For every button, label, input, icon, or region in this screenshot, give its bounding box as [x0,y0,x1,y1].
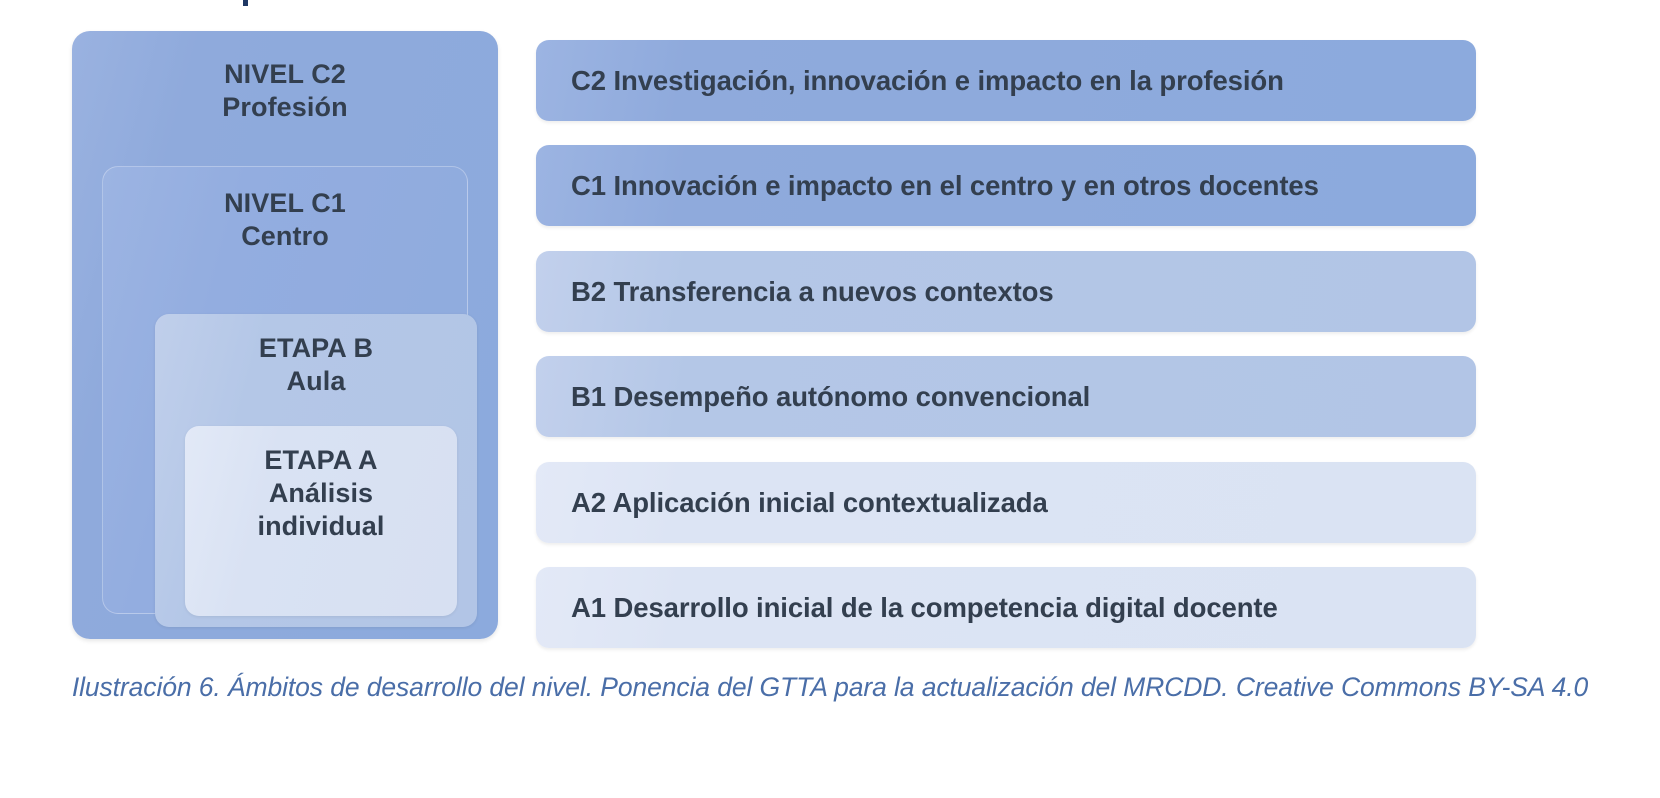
level-c2-line1: NIVEL C2 [224,59,346,89]
progression-bar-a1-label: A1 Desarrollo inicial de la competencia … [571,592,1278,624]
progression-bar-c2-label: C2 Investigación, innovación e impacto e… [571,65,1284,97]
level-box-nivel-c2: NIVEL C2 Profesión NIVEL C1 Centro ETAPA… [72,31,498,639]
level-box-nivel-c1: NIVEL C1 Centro ETAPA B Aula ETAPA A Aná… [102,166,468,614]
level-a-line2: Análisis [269,478,373,508]
progression-bar-c2: C2 Investigación, innovación e impacto e… [536,40,1476,121]
progression-bar-b1-label: B1 Desempeño autónomo convencional [571,381,1090,413]
level-a-line3: individual [257,511,384,541]
level-b-line1: ETAPA B [259,333,373,363]
progression-bars-list: C2 Investigación, innovación e impacto e… [536,40,1476,637]
level-c1-line1: NIVEL C1 [224,188,346,218]
progression-bar-b1: B1 Desempeño autónomo convencional [536,356,1476,437]
progression-bar-c1-label: C1 Innovación e impacto en el centro y e… [571,170,1319,202]
progression-bar-b2-label: B2 Transferencia a nuevos contextos [571,276,1054,308]
level-box-etapa-b-title: ETAPA B Aula [155,314,477,398]
level-a-line1: ETAPA A [264,445,377,475]
level-c2-line2: Profesión [222,92,347,122]
level-box-etapa-a: ETAPA A Análisis individual [185,426,457,616]
level-box-etapa-b: ETAPA B Aula ETAPA A Análisis individual [155,314,477,627]
progression-bar-a2-label: A2 Aplicación inicial contextualizada [571,487,1048,519]
progression-bar-a1: A1 Desarrollo inicial de la competencia … [536,567,1476,648]
level-box-etapa-a-title: ETAPA A Análisis individual [185,426,457,543]
nested-levels-diagram: NIVEL C2 Profesión NIVEL C1 Centro ETAPA… [72,31,498,639]
level-c1-line2: Centro [241,221,329,251]
figure-caption: Ilustración 6. Ámbitos de desarrollo del… [18,664,1642,710]
level-box-nivel-c2-title: NIVEL C2 Profesión [72,31,498,124]
progression-bar-a2: A2 Aplicación inicial contextualizada [536,462,1476,543]
level-b-line2: Aula [287,366,346,396]
progression-bar-c1: C1 Innovación e impacto en el centro y e… [536,145,1476,226]
progression-bar-b2: B2 Transferencia a nuevos contextos [536,251,1476,332]
level-box-nivel-c1-title: NIVEL C1 Centro [103,167,467,253]
top-cropped-fragment [243,0,248,6]
